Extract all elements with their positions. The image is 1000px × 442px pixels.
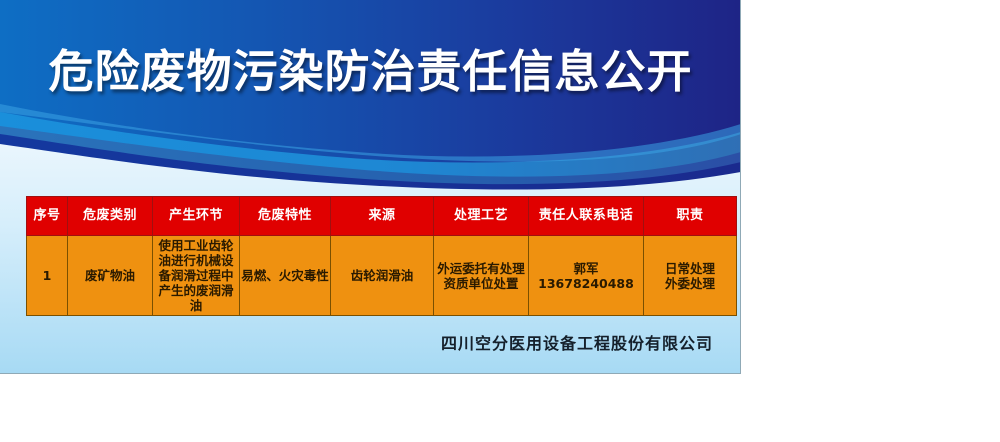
hazardous-waste-table: 序号 危废类别 产生环节 危废特性 来源 处理工艺 责任人联系电话 职责 1 废… [26, 196, 737, 316]
header-cell-contact: 责任人联系电话 [529, 197, 644, 236]
table-body: 1 废矿物油 使用工业齿轮油进行机械设备润滑过程中产生的废润滑油 易燃、火灾毒性… [27, 236, 737, 316]
cell-stage: 使用工业齿轮油进行机械设备润滑过程中产生的废润滑油 [153, 236, 240, 316]
header-row: 序号 危废类别 产生环节 危废特性 来源 处理工艺 责任人联系电话 职责 [27, 197, 737, 236]
header-cell-stage: 产生环节 [153, 197, 240, 236]
cell-source: 齿轮润滑油 [331, 236, 434, 316]
page-title: 危险废物污染防治责任信息公开 [0, 46, 741, 98]
cell-duty: 日常处理 外委处理 [644, 236, 737, 316]
cell-no: 1 [27, 236, 68, 316]
cell-characteristic: 易燃、火灾毒性 [240, 236, 331, 316]
cell-process: 外运委托有处理资质单位处置 [434, 236, 529, 316]
header-cell-category: 危废类别 [68, 197, 153, 236]
banner: 危险废物污染防治责任信息公开 [0, 0, 741, 190]
header-cell-duty: 职责 [644, 197, 737, 236]
cell-contact: 郭军 13678240488 [529, 236, 644, 316]
company-name: 四川空分医用设备工程股份有限公司 [0, 330, 713, 354]
header-cell-process: 处理工艺 [434, 197, 529, 236]
header-cell-characteristic: 危废特性 [240, 197, 331, 236]
header-cell-no: 序号 [27, 197, 68, 236]
cell-category: 废矿物油 [68, 236, 153, 316]
table-header: 序号 危废类别 产生环节 危废特性 来源 处理工艺 责任人联系电话 职责 [27, 197, 737, 236]
poster-container: 危险废物污染防治责任信息公开 序号 危废类别 产生环节 危废特性 来源 处理工艺… [0, 0, 741, 374]
header-cell-source: 来源 [331, 197, 434, 236]
table-row: 1 废矿物油 使用工业齿轮油进行机械设备润滑过程中产生的废润滑油 易燃、火灾毒性… [27, 236, 737, 316]
